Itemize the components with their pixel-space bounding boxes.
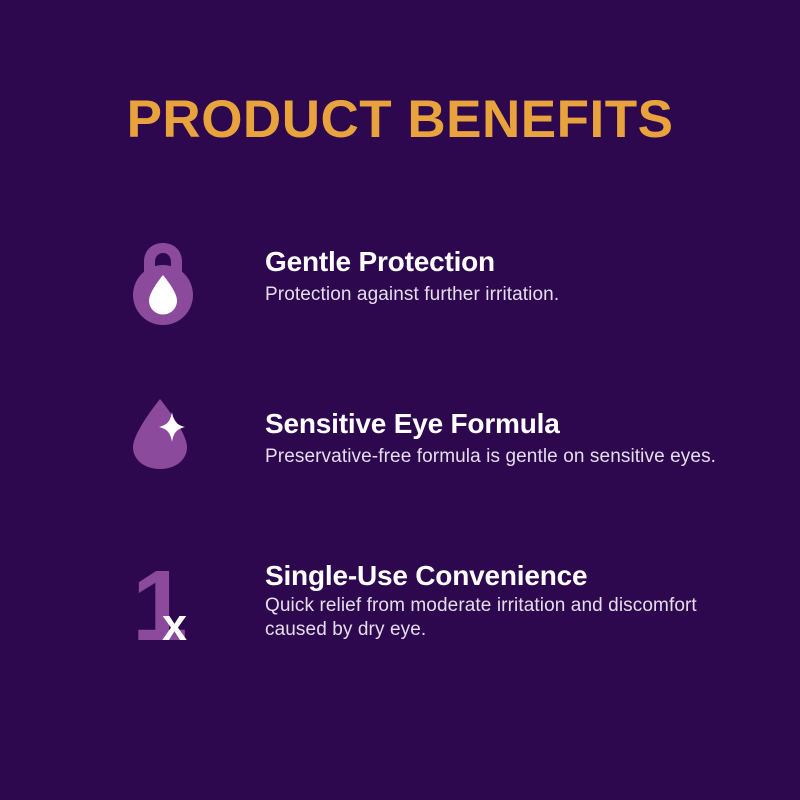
icon-multiplier-text: x <box>162 599 187 642</box>
benefit-item-gentle-protection: Gentle Protection Protection against fur… <box>130 242 770 326</box>
benefit-heading: Single-Use Convenience <box>265 560 770 591</box>
benefits-list: Gentle Protection Protection against fur… <box>0 0 800 800</box>
benefit-heading: Gentle Protection <box>265 246 770 277</box>
benefit-heading: Sensitive Eye Formula <box>265 408 770 439</box>
benefit-body: Quick relief from moderate irritation an… <box>265 594 745 642</box>
benefit-text-container: Single-Use Convenience Quick relief from… <box>265 556 770 642</box>
benefit-body: Preservative-free formula is gentle on s… <box>265 445 765 469</box>
benefit-icon-container: 1 x <box>130 556 265 642</box>
benefit-icon-container <box>130 398 265 470</box>
benefit-item-sensitive-eye-formula: Sensitive Eye Formula Preservative-free … <box>130 398 770 470</box>
benefit-text-container: Gentle Protection Protection against fur… <box>265 242 770 307</box>
padlock-droplet-icon <box>130 242 196 326</box>
droplet-sparkle-icon <box>130 398 190 470</box>
benefit-icon-container <box>130 242 265 326</box>
benefit-text-container: Sensitive Eye Formula Preservative-free … <box>265 398 770 469</box>
one-times-icon: 1 x <box>130 556 200 642</box>
product-benefits-poster: PRODUCT BENEFITS Gentle Protection Prote… <box>0 0 800 800</box>
benefit-item-single-use-convenience: 1 x Single-Use Convenience Quick relief … <box>130 556 770 642</box>
benefit-body: Protection against further irritation. <box>265 283 765 307</box>
